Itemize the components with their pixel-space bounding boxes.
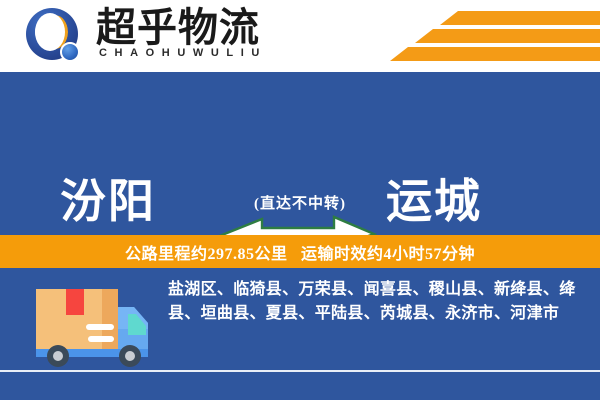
logo-accent-dot-icon xyxy=(60,42,80,62)
logistics-route-banner: 超乎物流 CHAOHUWULIU 汾阳 运城 (直达不中转) 【往返运输】 公路… xyxy=(0,0,600,400)
coverage-areas-text: 盐湖区、临猗县、万荣县、闻喜县、稷山县、新绛县、绛县、垣曲县、夏县、平陆县、芮城… xyxy=(168,278,580,326)
company-logo-icon xyxy=(26,8,88,66)
bottom-divider xyxy=(0,370,600,372)
header-bar: 超乎物流 CHAOHUWULIU xyxy=(0,0,600,72)
route-section: 汾阳 运城 (直达不中转) 【往返运输】 xyxy=(0,72,600,235)
header-stripe-1 xyxy=(440,11,600,25)
direct-shipping-note: (直达不中转) xyxy=(0,192,600,213)
header-stripe-3 xyxy=(390,47,600,61)
brand-name-chinese: 超乎物流 xyxy=(96,6,260,50)
route-info-bar: 公路里程约297.85公里 运输时效约4小时57分钟 xyxy=(0,235,600,268)
header-stripe-2 xyxy=(415,29,600,43)
logo-crescent-mask-shape xyxy=(35,13,65,51)
delivery-truck-icon xyxy=(30,277,154,367)
distance-and-duration-text: 公路里程约297.85公里 运输时效约4小时57分钟 xyxy=(125,240,475,264)
brand-name-pinyin: CHAOHUWULIU xyxy=(99,47,267,60)
